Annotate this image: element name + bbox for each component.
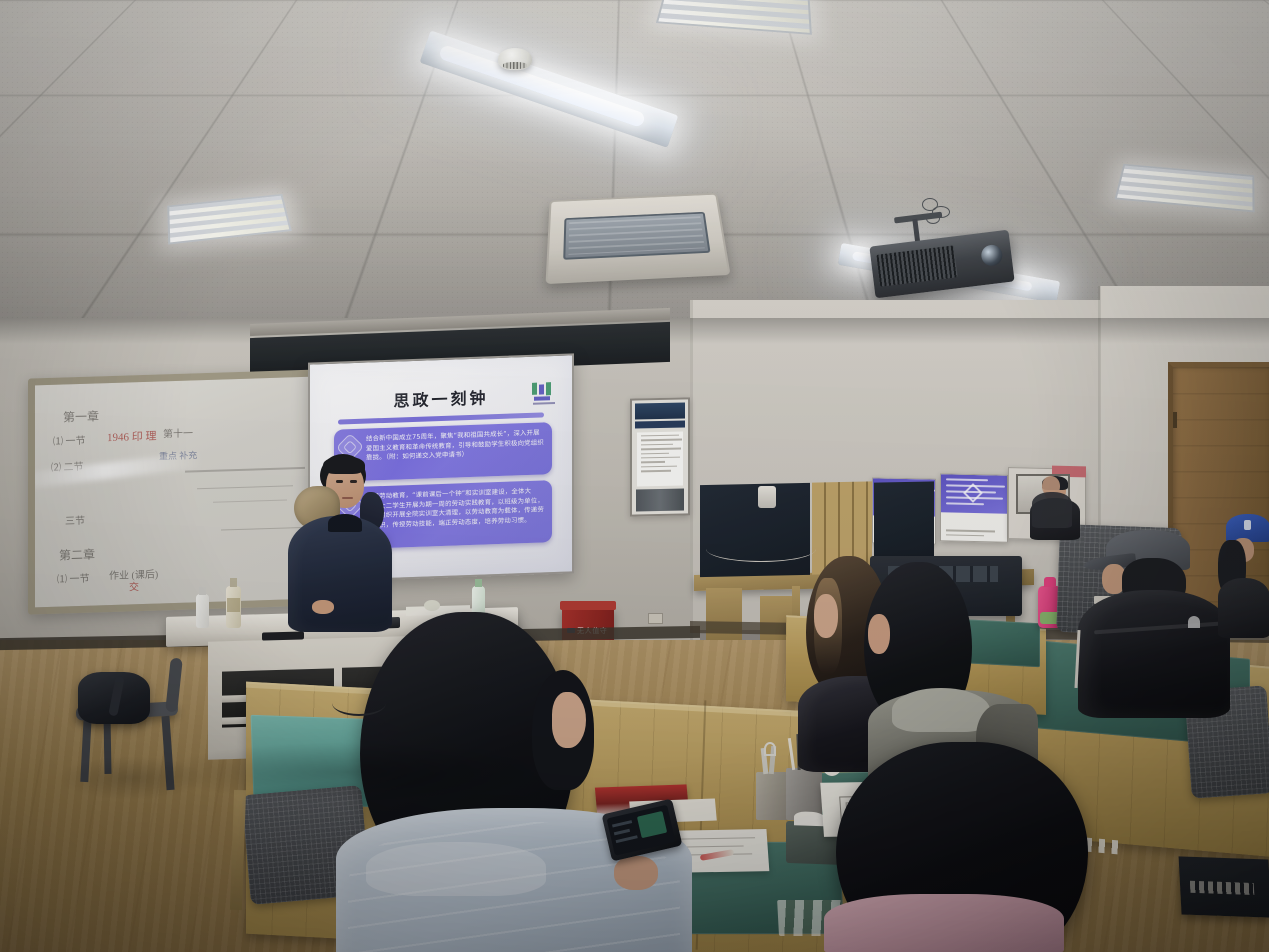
ac-vent [563, 212, 710, 260]
bench-lamp [758, 486, 776, 508]
student-gray-hoodie-hood [892, 688, 990, 732]
ac-cassette-unit [546, 193, 731, 284]
pen-holder-with-scissors [756, 772, 788, 820]
student-left-hand [614, 856, 658, 890]
blue-cap-logo-icon [1244, 520, 1251, 530]
instructor-hand [312, 600, 334, 614]
instructor-hair-front [323, 456, 365, 474]
student-gray-cap-puffer [1078, 590, 1230, 718]
jacket-brand-logo-icon [1188, 616, 1200, 628]
remote-control[interactable] [262, 631, 304, 640]
door-hinge-icon [1173, 412, 1177, 428]
notice-text-lines [637, 432, 683, 487]
dark-hardcover-book [1179, 856, 1269, 917]
tissue-wad [424, 600, 440, 611]
student-black-jacket-face [814, 594, 838, 638]
lotion-bottle [226, 586, 241, 628]
student-blue-cap [1218, 514, 1269, 638]
notice-photo-strip [636, 488, 684, 511]
school-logo [532, 382, 558, 407]
shadow-chair-left [56, 756, 206, 800]
student-gray-hoodie-face [868, 614, 890, 654]
person-far-back-right [1030, 476, 1074, 528]
slide-block-2-text: 加强劳动教育，“课前课后一个钟”和实训室建设，全体大一、大二学生开展为期一周的劳… [366, 487, 544, 529]
student-left-hood [366, 842, 546, 896]
instructor-collar [328, 514, 362, 532]
instructor-eye-right [350, 480, 357, 483]
desk-cable-front [332, 690, 386, 716]
instructor [268, 444, 390, 628]
scissors-icon [764, 742, 776, 756]
classroom-photo: 第一章 ⑴ 一节 1946 印 理 第十一 ⑵ 二节 重点 补充 三节 第二章 … [0, 0, 1269, 952]
instructor-eye-left [336, 480, 343, 483]
shadow-podium [158, 742, 538, 802]
wall-notice-frame [630, 397, 690, 516]
hand-sanitizer-bottle-left [196, 594, 209, 628]
workstation-dark-panel-left [700, 483, 810, 577]
student-foreground-right [836, 742, 1166, 952]
smoke-detector [498, 48, 532, 70]
student-right-jacket [824, 894, 1064, 952]
student-blue-cap-body [1218, 578, 1269, 638]
student-left-cheek [552, 692, 586, 748]
slide-block-1-text: 结合新中国成立75周年，聚焦“我和祖国共成长”，深入开展爱国主义教育和革命传统教… [366, 429, 544, 462]
student-gray-cap [1078, 530, 1240, 720]
